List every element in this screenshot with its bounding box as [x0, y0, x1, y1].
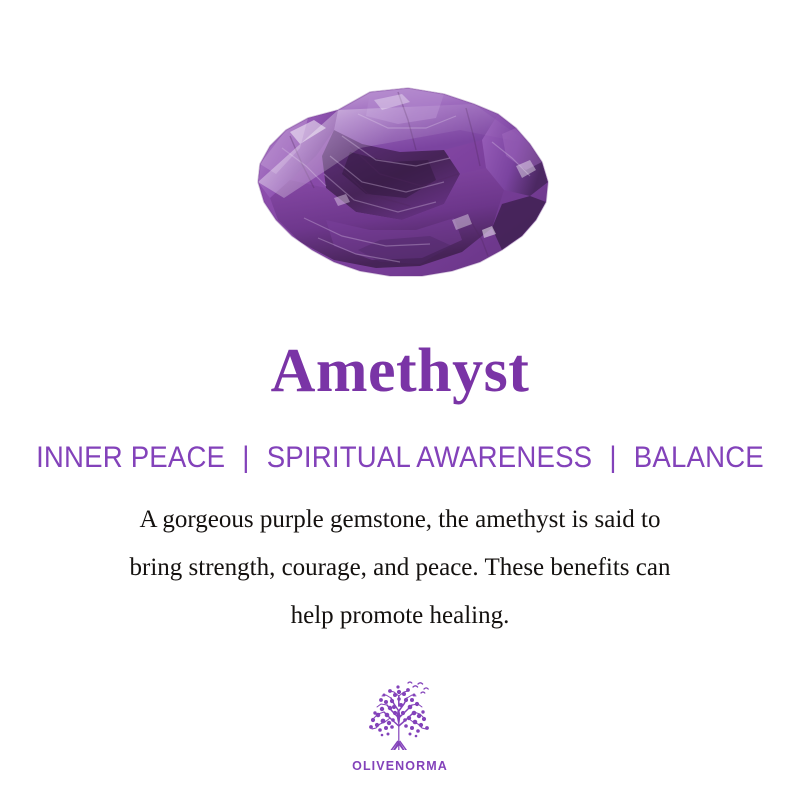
product-description: A gorgeous purple gemstone, the amethyst…: [50, 496, 750, 640]
product-card: Amethyst INNER PEACE | SPIRITUAL AWARENE…: [0, 0, 800, 800]
description-line: bring strength, courage, and peace. Thes…: [50, 544, 750, 592]
description-line: help promote healing.: [50, 592, 750, 640]
keyword-inner-peace: INNER PEACE: [36, 440, 225, 476]
keyword-separator: |: [600, 440, 626, 476]
brand-name: OLIVENORMA: [352, 759, 448, 773]
product-image-container: [0, 60, 800, 310]
keyword-separator: |: [233, 440, 259, 476]
page-title: Amethyst: [0, 335, 800, 407]
keyword-spiritual-awareness: SPIRITUAL AWARENESS: [267, 440, 593, 476]
birds-icon: [408, 682, 428, 693]
brand-logo: OLIVENORMA: [0, 680, 800, 773]
tree-of-life-icon: [357, 680, 443, 756]
keyword-list: INNER PEACE | SPIRITUAL AWARENESS | BALA…: [32, 440, 768, 476]
description-line: A gorgeous purple gemstone, the amethyst…: [50, 496, 750, 544]
amethyst-stone-image: [230, 70, 570, 300]
keyword-balance: BALANCE: [634, 440, 764, 476]
stone-body: [230, 70, 570, 300]
